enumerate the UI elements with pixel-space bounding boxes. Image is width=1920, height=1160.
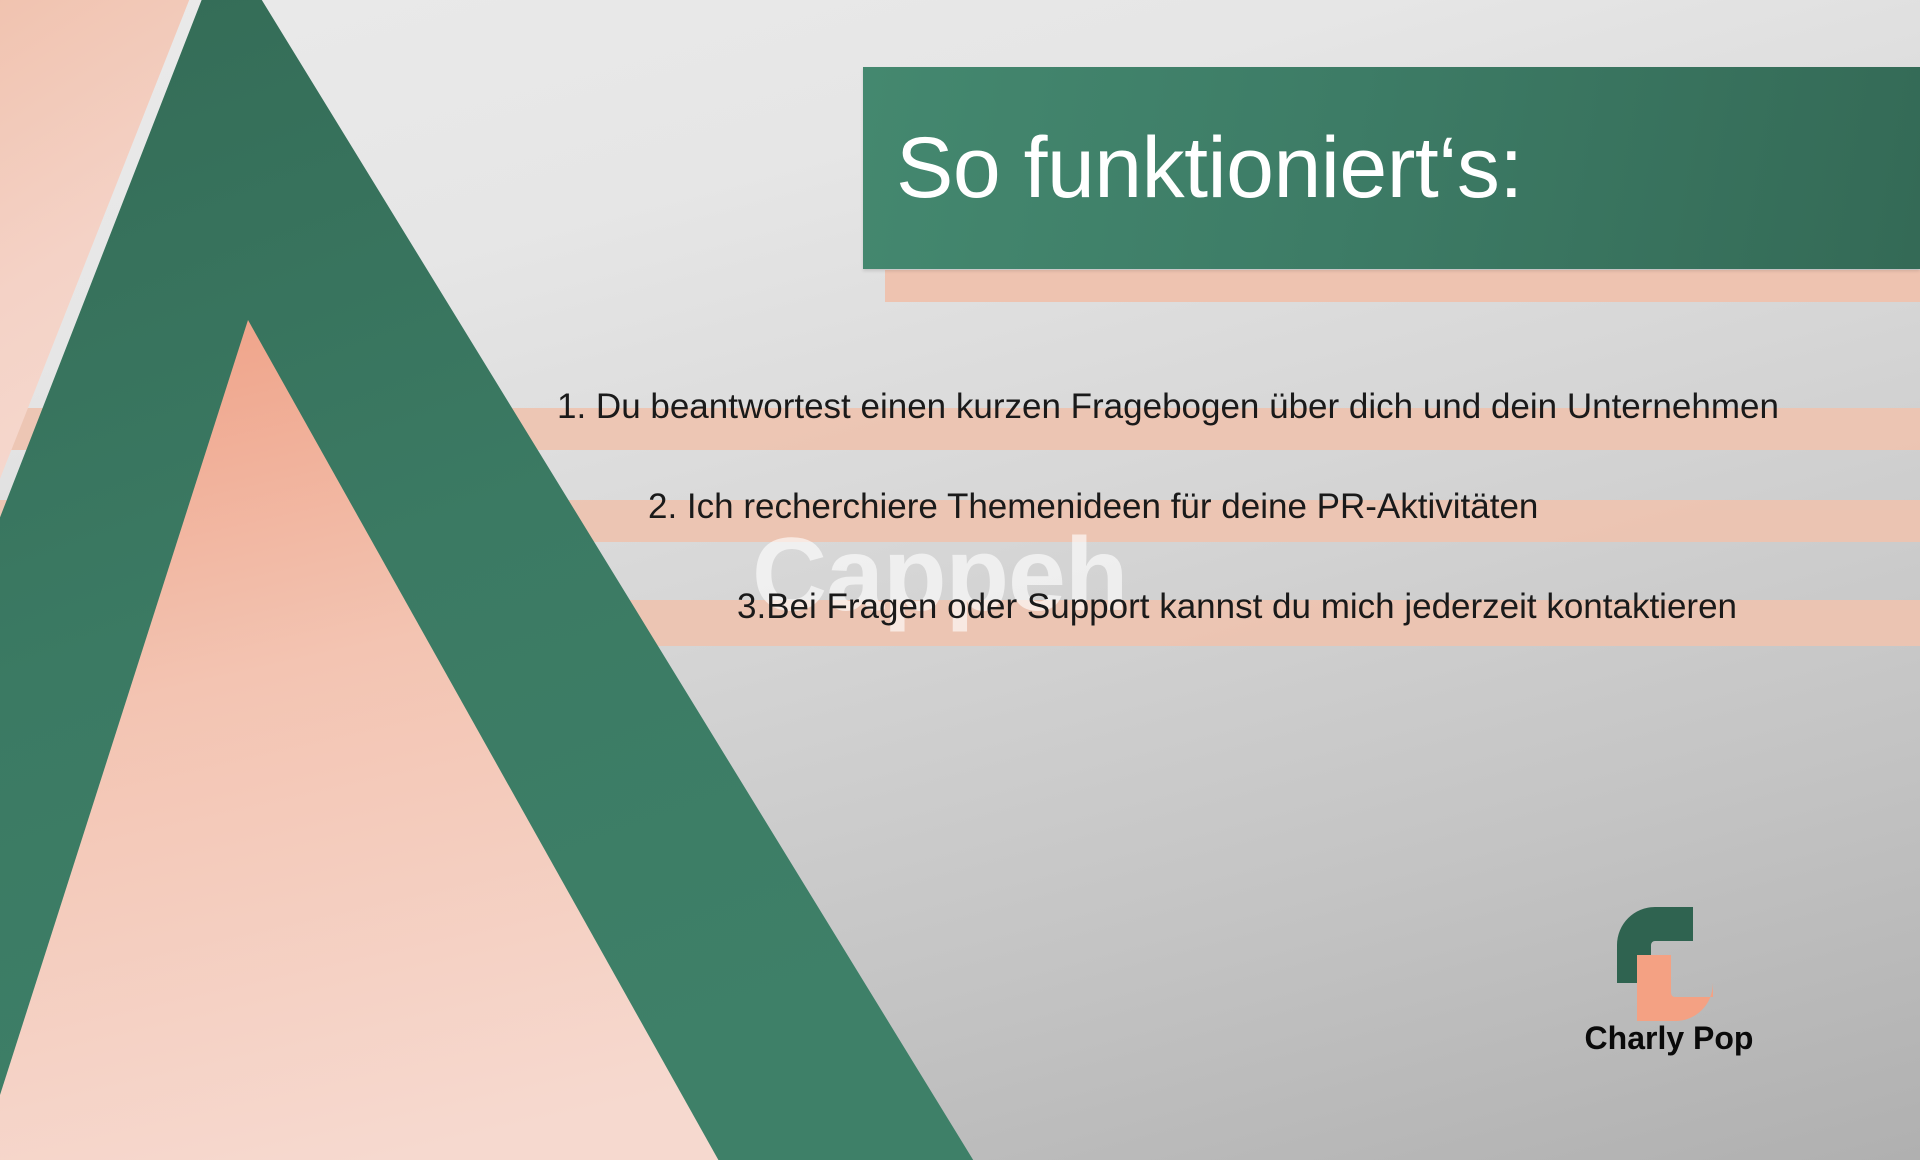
- page-title: So funktioniert‘s:: [896, 125, 1523, 211]
- step-item-1: 1. Du beantwortest einen kurzen Fragebog…: [557, 389, 1779, 424]
- title-accent-strip: [885, 270, 1920, 302]
- title-banner: So funktioniert‘s:: [863, 67, 1920, 269]
- brand-name: Charly Pop: [1574, 1020, 1764, 1057]
- step-item-2: 2. Ich recherchiere Themenideen für dein…: [648, 489, 1538, 524]
- chevron-decoration-icon: [0, 0, 1000, 1160]
- charly-pop-logo-icon: [1600, 893, 1730, 1028]
- step-item-3: 3.Bei Fragen oder Support kannst du mich…: [737, 589, 1737, 624]
- presentation-slide: Cappeh So funktioniert‘s: 1. Du beantwor…: [0, 0, 1920, 1160]
